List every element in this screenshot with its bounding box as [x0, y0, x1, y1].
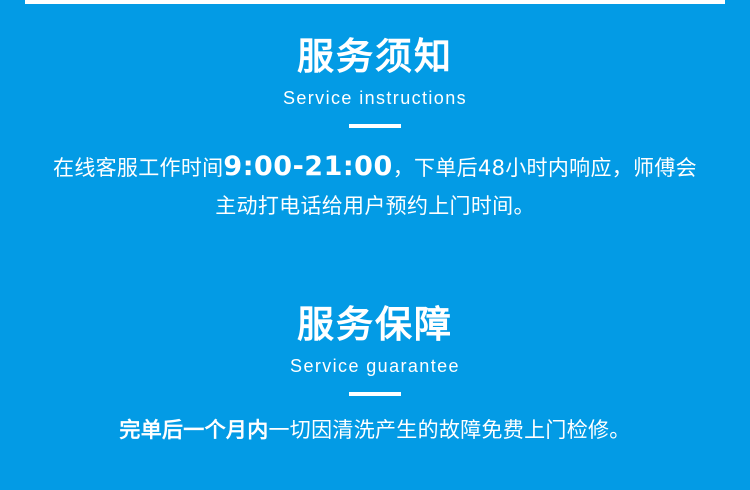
section-divider-instructions	[349, 124, 401, 128]
section-body-guarantee: 完单后一个月内一切因清洗产生的故障免费上门检修。	[48, 396, 702, 447]
divider-wrap-guarantee	[0, 375, 750, 396]
guarantee-tail-text: 一切因清洗产生的故障免费上门检修。	[269, 418, 631, 442]
guarantee-period-value: 完单后一个月内	[119, 418, 268, 442]
section-heading-cn-guarantee: 服务保障	[0, 306, 750, 343]
top-accent-strip	[25, 0, 725, 4]
divider-wrap-instructions	[0, 107, 750, 128]
section-body-instructions: 在线客服工作时间9:00-21:00，下单后48小时内响应，师傅会主动打电话给用…	[48, 128, 702, 223]
service-hours-value: 9:00-21:00	[223, 151, 392, 182]
section-heading-cn-instructions: 服务须知	[0, 38, 750, 75]
body-lead-text: 在线客服工作时间	[53, 156, 223, 180]
section-divider-guarantee	[349, 392, 401, 396]
service-banner: 服务须知 Service instructions 在线客服工作时间9:00-2…	[0, 0, 750, 490]
section-service-guarantee: 服务保障 Service guarantee 完单后一个月内一切因清洗产生的故障…	[0, 306, 750, 447]
section-heading-en-instructions: Service instructions	[0, 75, 750, 107]
section-heading-en-guarantee: Service guarantee	[0, 343, 750, 375]
section-service-instructions: 服务须知 Service instructions 在线客服工作时间9:00-2…	[0, 38, 750, 223]
